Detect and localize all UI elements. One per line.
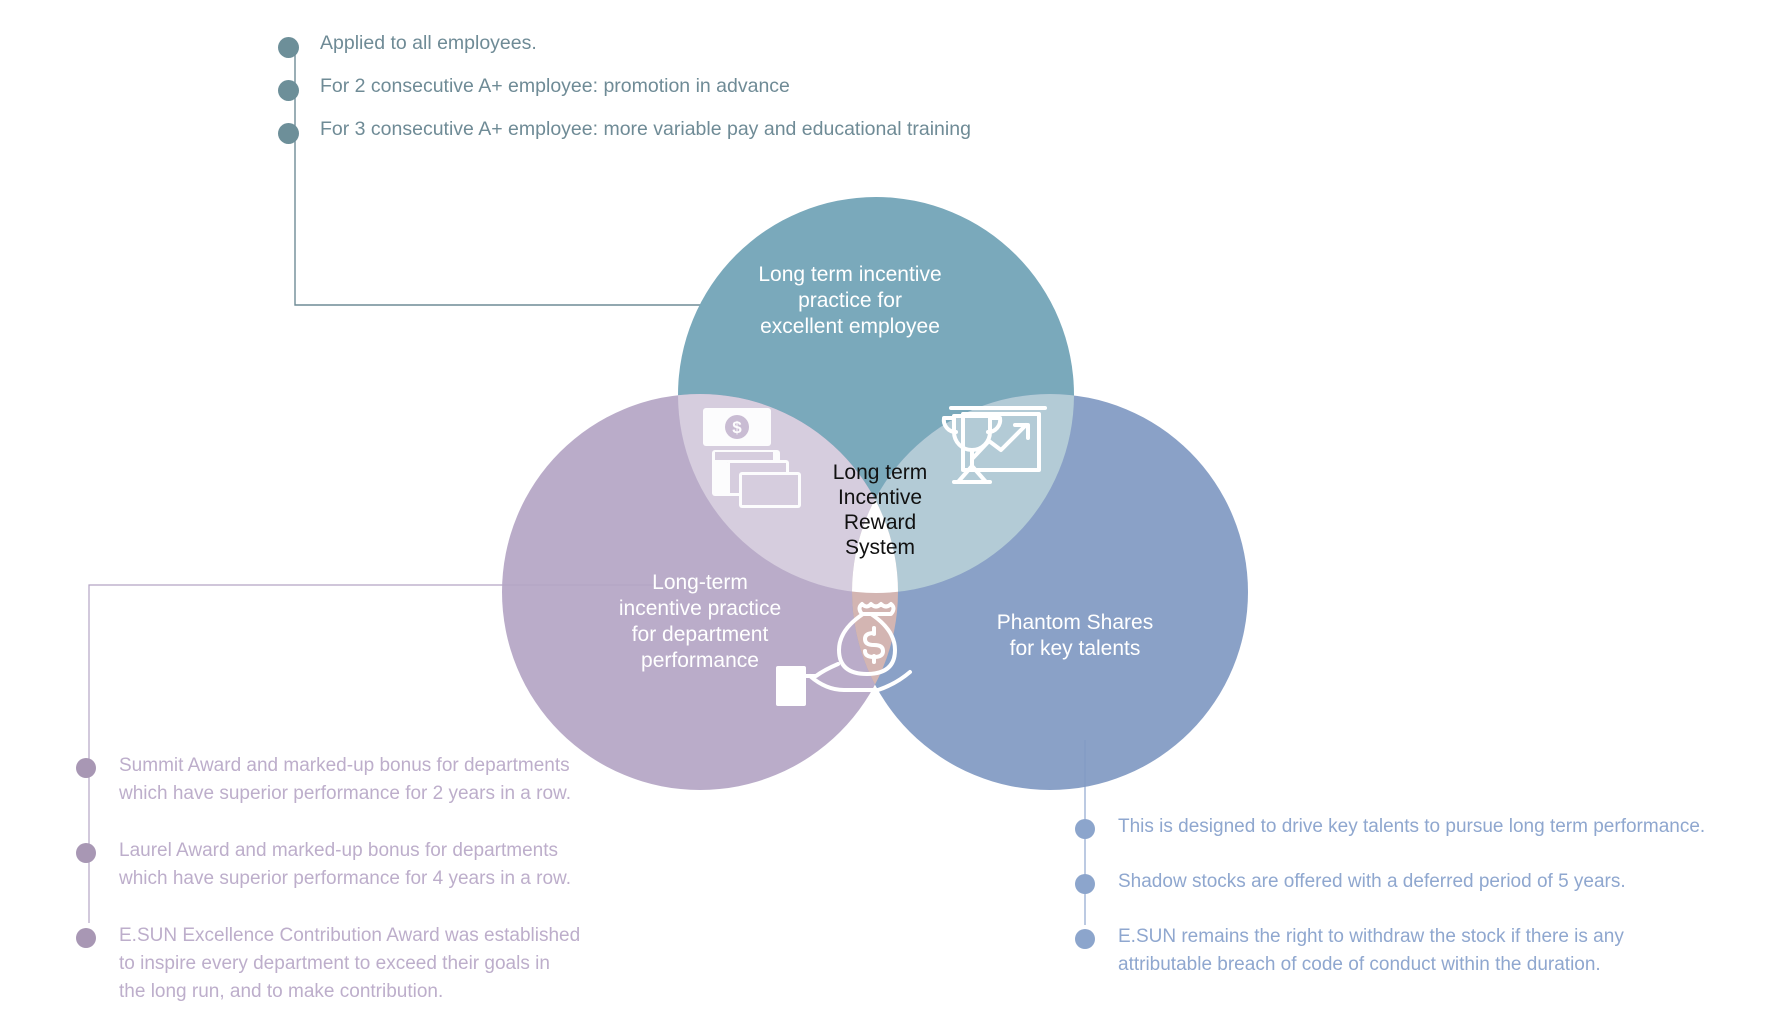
list-item: This is designed to drive key talents to…: [1075, 813, 1755, 841]
list-item-label: For 3 consecutive A+ employee: more vari…: [320, 116, 971, 142]
right-bullet-list: This is designed to drive key talents to…: [1075, 813, 1755, 1006]
bullet-dot-icon: [1075, 929, 1095, 949]
list-item-label: Shadow stocks are offered with a deferre…: [1118, 868, 1626, 896]
left-bullet-list: Summit Award and marked-up bonus for dep…: [76, 752, 636, 1035]
bullet-dot-icon: [1075, 874, 1095, 894]
bullet-dot-icon: [278, 123, 299, 144]
list-item-label: E.SUN Excellence Contribution Award was …: [119, 922, 580, 1006]
list-item: E.SUN remains the right to withdraw the …: [1075, 923, 1755, 979]
list-item: Laurel Award and marked-up bonus for dep…: [76, 837, 636, 893]
list-item: E.SUN Excellence Contribution Award was …: [76, 922, 636, 1006]
bullet-dot-icon: [1075, 819, 1095, 839]
bullet-dot-icon: [76, 843, 96, 863]
top-bullet-list: Applied to all employees. For 2 consecut…: [278, 30, 1038, 159]
list-item-label: E.SUN remains the right to withdraw the …: [1118, 923, 1624, 979]
list-item: Applied to all employees.: [278, 30, 1038, 58]
list-item-label: Laurel Award and marked-up bonus for dep…: [119, 837, 571, 893]
list-item: Shadow stocks are offered with a deferre…: [1075, 868, 1755, 896]
diagram-canvas: $: [0, 0, 1783, 1029]
bullet-dot-icon: [76, 758, 96, 778]
list-item: Summit Award and marked-up bonus for dep…: [76, 752, 636, 808]
bullet-dot-icon: [278, 80, 299, 101]
venn-center-label: Long term Incentive Reward System: [790, 460, 970, 560]
list-item-label: This is designed to drive key talents to…: [1118, 813, 1705, 841]
list-item: For 3 consecutive A+ employee: more vari…: [278, 116, 1038, 144]
list-item: For 2 consecutive A+ employee: promotion…: [278, 73, 1038, 101]
svg-text:$: $: [732, 418, 742, 437]
bullet-dot-icon: [278, 37, 299, 58]
list-item-label: Summit Award and marked-up bonus for dep…: [119, 752, 571, 808]
list-item-label: Applied to all employees.: [320, 30, 537, 56]
bullet-dot-icon: [76, 928, 96, 948]
list-item-label: For 2 consecutive A+ employee: promotion…: [320, 73, 790, 99]
